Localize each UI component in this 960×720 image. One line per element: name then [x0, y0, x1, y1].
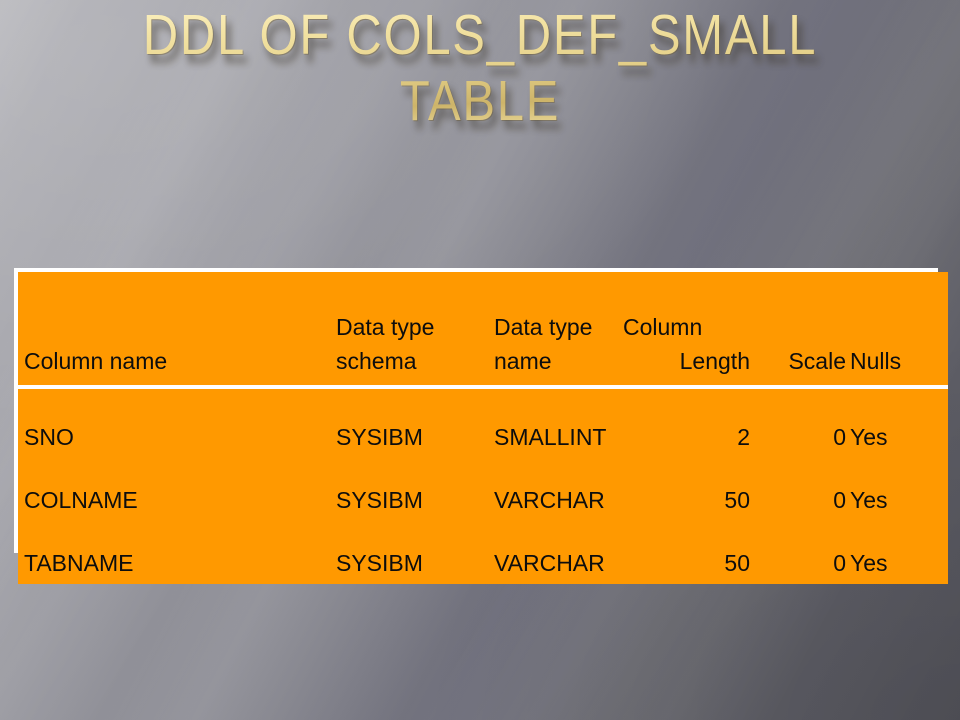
cell-data-type-name: VARCHAR	[494, 458, 623, 521]
cell-nulls: Yes	[848, 389, 948, 458]
table-header-row: Column name Data type schema Data type n…	[18, 272, 948, 385]
cell-data-type-schema: SYSIBM	[336, 458, 494, 521]
ddl-table: Column name Data type schema Data type n…	[14, 268, 938, 553]
cell-column-name: SNO	[18, 389, 336, 458]
cell-scale: 0	[754, 458, 848, 521]
slide-canvas: DDL OF COLS_DEF_SMALL TABLE Column name …	[0, 0, 960, 720]
cell-column-length: 50	[623, 521, 754, 584]
cell-nulls: Yes	[848, 521, 948, 584]
header-column-length-line2: Length	[623, 346, 750, 376]
cell-data-type-schema: SYSIBM	[336, 521, 494, 584]
table-row: COLNAME SYSIBM VARCHAR 50 0 Yes	[18, 458, 948, 521]
cell-scale: 0	[754, 521, 848, 584]
header-cell-column-length: Column Length	[623, 272, 754, 385]
cell-nulls: Yes	[848, 458, 948, 521]
cell-data-type-name: SMALLINT	[494, 389, 623, 458]
cell-column-name: TABNAME	[18, 521, 336, 584]
cell-column-name: COLNAME	[18, 458, 336, 521]
cell-column-length: 2	[623, 389, 754, 458]
header-nulls-line2: Nulls	[850, 346, 948, 376]
header-cell-column-name: Column name	[18, 272, 336, 385]
header-column-length-line1: Column	[623, 308, 750, 346]
header-cell-scale: Scale	[754, 272, 848, 385]
header-cell-nulls: Nulls	[848, 272, 948, 385]
table-row: SNO SYSIBM SMALLINT 2 0 Yes	[18, 389, 948, 458]
header-data-type-name-line2: name	[494, 346, 623, 376]
header-data-type-schema-line1: Data type	[336, 308, 494, 346]
header-column-name-line1	[24, 308, 336, 346]
cell-data-type-schema: SYSIBM	[336, 389, 494, 458]
ddl-table-grid: Column name Data type schema Data type n…	[18, 272, 948, 584]
cell-data-type-name: VARCHAR	[494, 521, 623, 584]
header-scale-line2: Scale	[754, 346, 846, 376]
header-scale-line1	[754, 308, 846, 346]
table-row: TABNAME SYSIBM VARCHAR 50 0 Yes	[18, 521, 948, 584]
cell-column-length: 50	[623, 458, 754, 521]
header-data-type-name-line1: Data type	[494, 308, 623, 346]
header-cell-data-type-schema: Data type schema	[336, 272, 494, 385]
cell-scale: 0	[754, 389, 848, 458]
header-cell-data-type-name: Data type name	[494, 272, 623, 385]
header-nulls-line1	[850, 308, 948, 346]
header-column-name-line2: Column name	[24, 346, 336, 376]
header-data-type-schema-line2: schema	[336, 346, 494, 376]
